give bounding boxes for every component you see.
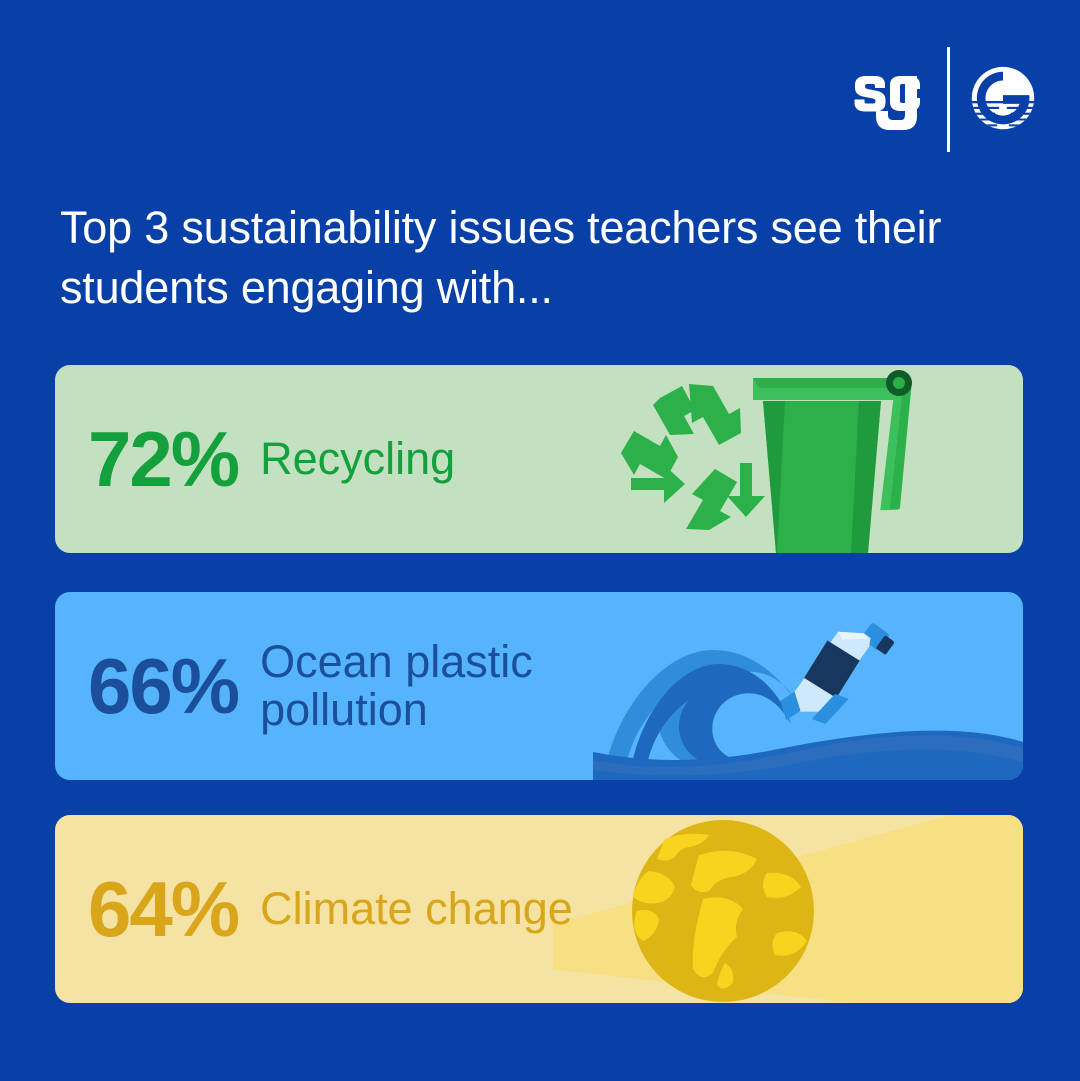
stat-label: Climate change: [260, 885, 573, 933]
globe-sunbeam-illustration: [553, 815, 1023, 1003]
brand-logo-lockup: [845, 47, 1035, 152]
stat-percent: 66%: [88, 647, 238, 725]
stat-card-recycling: 72% Recycling: [55, 365, 1023, 553]
ocean-wave-plastic-bottle-illustration: [593, 592, 1023, 780]
ocean-wave-bottle-art: [593, 592, 1023, 780]
infographic-page: Top 3 sustainability issues teachers see…: [0, 0, 1080, 1081]
stat-card-text-ocean: 66% Ocean plastic pollution: [88, 592, 590, 780]
page-title: Top 3 sustainability issues teachers see…: [60, 198, 1000, 318]
globe-icon: [632, 820, 814, 1002]
stat-label: Ocean plastic pollution: [260, 638, 590, 733]
recycling-bin-art: [603, 365, 1023, 553]
stat-card-climate-change: 64% Climate change: [55, 815, 1023, 1003]
globe-sunbeam-art: [553, 815, 1023, 1003]
stat-percent: 64%: [88, 870, 238, 948]
recycling-arrows-icon: [621, 384, 765, 530]
stat-card-text-climate: 64% Climate change: [88, 815, 573, 1003]
sc-johnson-wordmark-icon: [845, 55, 937, 145]
sc-johnson-globe-ripple-mark-icon: [964, 61, 1042, 139]
logo-divider: [947, 47, 950, 152]
stat-label: Recycling: [260, 435, 455, 483]
stat-card-text-recycling: 72% Recycling: [88, 365, 455, 553]
wave-icon: [593, 650, 1023, 780]
recycling-bin-illustration: [603, 365, 1023, 553]
stat-percent: 72%: [88, 420, 238, 498]
recycling-bin-icon: [753, 370, 928, 553]
plastic-bottle-icon: [773, 606, 896, 745]
stat-card-ocean-plastic-pollution: 66% Ocean plastic pollution: [55, 592, 1023, 780]
